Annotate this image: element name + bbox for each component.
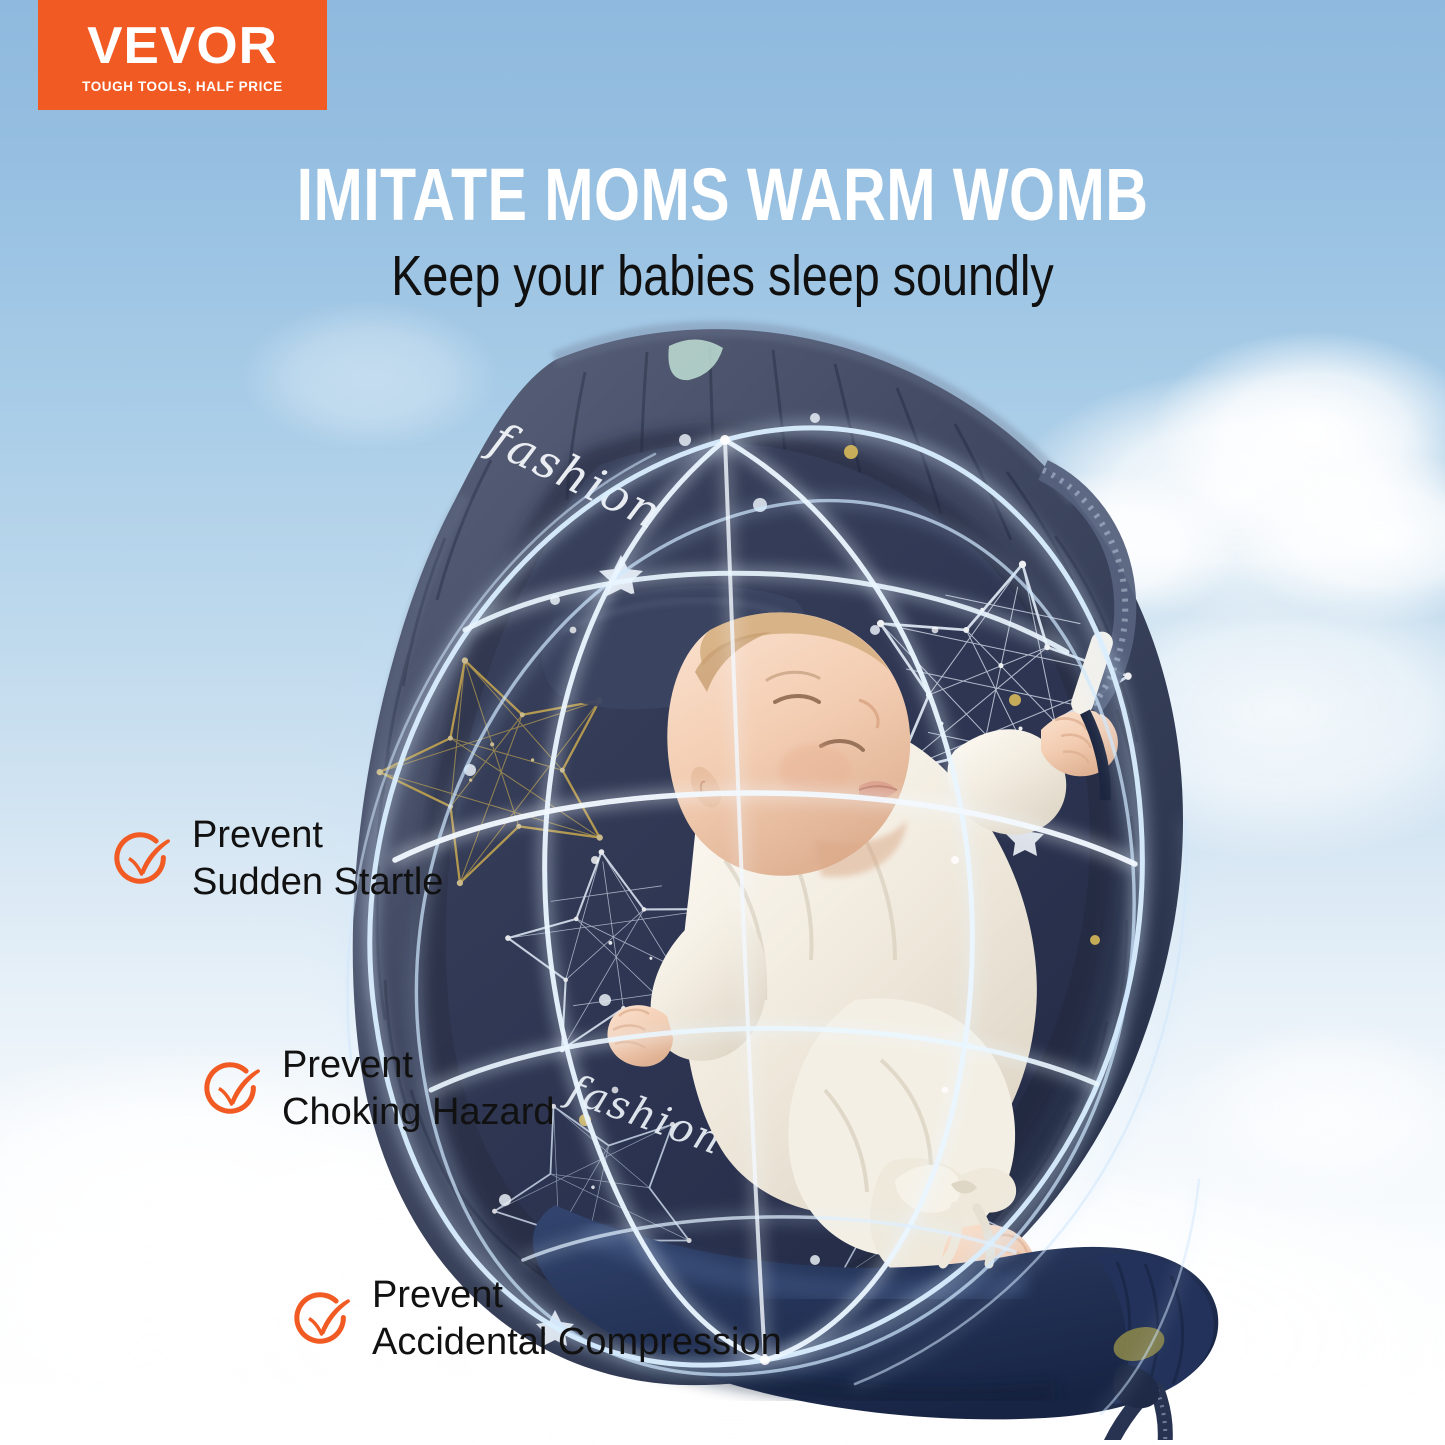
feature-line-1: Prevent xyxy=(372,1274,503,1316)
page-title: IMITATE MOMS WARM WOMB xyxy=(145,152,1301,237)
circle-check-icon xyxy=(202,1058,264,1120)
circle-check-icon xyxy=(292,1288,354,1350)
page-subtitle: Keep your babies sleep soundly xyxy=(130,243,1315,309)
feature-item-sudden-startle: Prevent Sudden Startle xyxy=(112,812,443,906)
feature-line-1: Prevent xyxy=(282,1044,413,1086)
feature-item-choking-hazard: Prevent Choking Hazard xyxy=(202,1042,554,1136)
feature-line-2: Sudden Startle xyxy=(192,859,443,906)
vevor-logo: VEVOR TOUGH TOOLS, HALF PRICE xyxy=(38,0,327,110)
feature-line-2: Choking Hazard xyxy=(282,1089,554,1136)
feature-label: Prevent Choking Hazard xyxy=(282,1042,554,1136)
logo-tagline: TOUGH TOOLS, HALF PRICE xyxy=(82,79,283,94)
logo-wordmark: VEVOR xyxy=(87,20,278,72)
feature-line-1: Prevent xyxy=(192,814,323,856)
circle-check-icon xyxy=(112,828,174,890)
feature-line-2: Accidental Compression xyxy=(372,1319,782,1366)
feature-label: Prevent Accidental Compression xyxy=(372,1272,782,1366)
feature-label: Prevent Sudden Startle xyxy=(192,812,443,906)
product-marketing-banner: fashion fashion xyxy=(0,0,1445,1445)
feature-item-accidental-compression: Prevent Accidental Compression xyxy=(292,1272,782,1366)
